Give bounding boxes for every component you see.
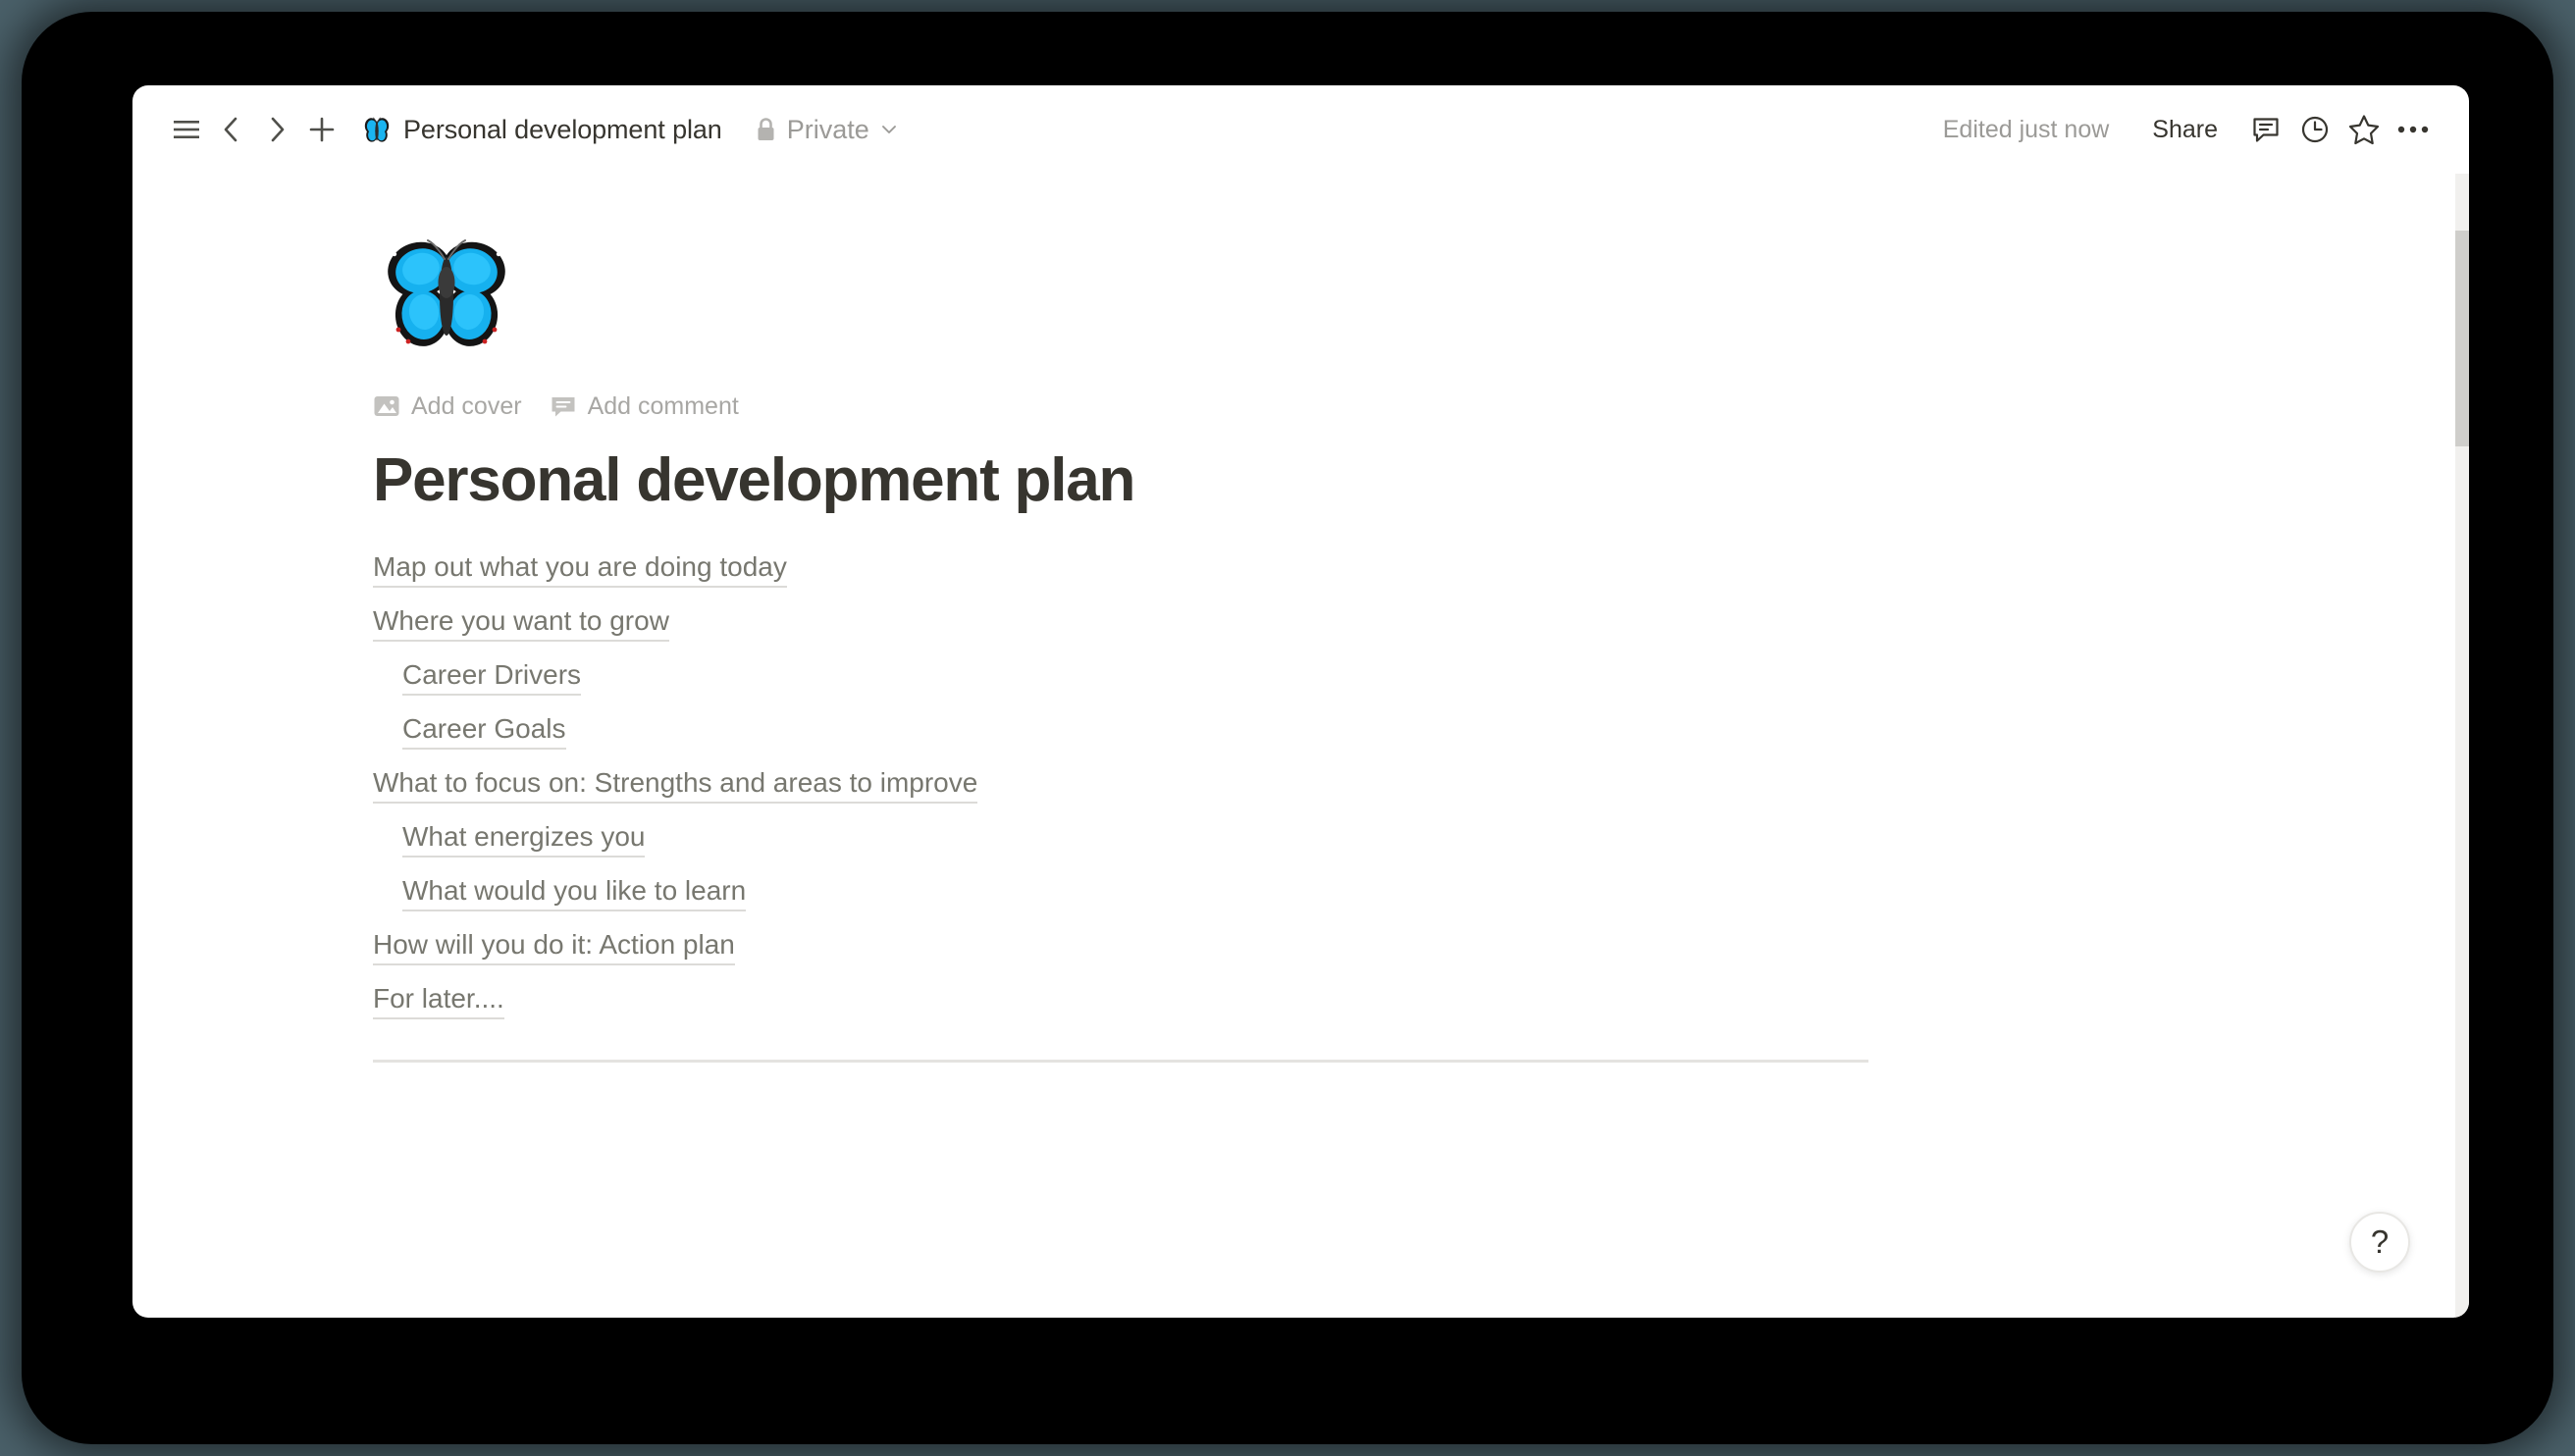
page-actions: Add cover Add comment [373, 389, 2460, 424]
page-link-map-out-what-you-are-doing-today[interactable]: Map out what you are doing today [373, 551, 787, 588]
add-cover-label: Add cover [411, 392, 522, 421]
list-item: What to focus on: Strengths and areas to… [373, 758, 2460, 812]
page-link-how-will-you-do-it-action-plan[interactable]: How will you do it: Action plan [373, 929, 735, 965]
hamburger-menu-icon[interactable] [164, 107, 209, 152]
share-button[interactable]: Share [2136, 110, 2233, 150]
list-item: How will you do it: Action plan [373, 920, 2460, 974]
ellipsis-icon[interactable] [2391, 107, 2436, 152]
add-cover-button[interactable]: Add cover [373, 392, 522, 421]
list-item: Career Goals [373, 704, 2460, 758]
list-item: What would you like to learn [373, 866, 2460, 920]
topbar-page-title: Personal development plan [403, 115, 722, 145]
list-item: For later.... [373, 974, 2460, 1028]
star-icon[interactable] [2341, 107, 2387, 152]
topbar-left-group: Personal development plan Private [164, 107, 908, 152]
topbar-right-group: Edited just now Share [1931, 107, 2436, 152]
page-link-career-drivers[interactable]: Career Drivers [402, 659, 581, 696]
content-scroll-area[interactable]: Add cover Add comment Personal developme… [132, 174, 2469, 1318]
page-title[interactable]: Personal development plan [373, 445, 2460, 515]
image-icon [373, 392, 400, 420]
butterfly-emoji [362, 115, 392, 144]
page-emoji-button[interactable] [373, 235, 520, 353]
clock-history-icon[interactable] [2292, 107, 2338, 152]
chevron-left-icon[interactable] [209, 107, 254, 152]
list-item: What energizes you [373, 812, 2460, 866]
lock-icon [755, 117, 777, 143]
page-link-what-energizes-you[interactable]: What energizes you [402, 821, 645, 858]
privacy-label: Private [787, 115, 869, 145]
page-link-what-to-focus-on[interactable]: What to focus on: Strengths and areas to… [373, 767, 977, 804]
add-comment-label: Add comment [588, 392, 739, 421]
page-privacy-selector[interactable]: Private [746, 111, 908, 149]
page-link-list: Map out what you are doing today Where y… [373, 543, 2460, 1028]
help-label: ? [2371, 1223, 2389, 1261]
list-item: Where you want to grow [373, 597, 2460, 650]
scrollbar-thumb[interactable] [2455, 231, 2469, 446]
page-link-where-you-want-to-grow[interactable]: Where you want to grow [373, 605, 669, 642]
edited-status: Edited just now [1931, 110, 2122, 150]
content-divider [373, 1060, 1868, 1063]
chevron-down-icon [879, 120, 899, 139]
add-comment-button[interactable]: Add comment [550, 392, 739, 421]
vertical-scrollbar[interactable] [2455, 174, 2469, 1318]
list-item: Map out what you are doing today [373, 543, 2460, 597]
comment-bubble-icon [550, 392, 577, 420]
comment-bubble-icon[interactable] [2243, 107, 2288, 152]
page-link-what-would-you-like-to-learn[interactable]: What would you like to learn [402, 875, 746, 911]
plus-icon[interactable] [299, 107, 344, 152]
butterfly-emoji [373, 235, 520, 353]
chevron-right-icon[interactable] [254, 107, 299, 152]
page-link-career-goals[interactable]: Career Goals [402, 713, 566, 750]
page-body: Add cover Add comment Personal developme… [132, 174, 2460, 1063]
topbar: Personal development plan Private Edited… [132, 85, 2469, 174]
device-frame: Personal development plan Private Edited… [22, 12, 2553, 1444]
list-item: Career Drivers [373, 650, 2460, 704]
help-button[interactable]: ? [2349, 1212, 2410, 1273]
topbar-page-chip[interactable]: Personal development plan [354, 111, 732, 149]
app-window: Personal development plan Private Edited… [132, 85, 2469, 1318]
page-link-for-later[interactable]: For later.... [373, 983, 504, 1019]
